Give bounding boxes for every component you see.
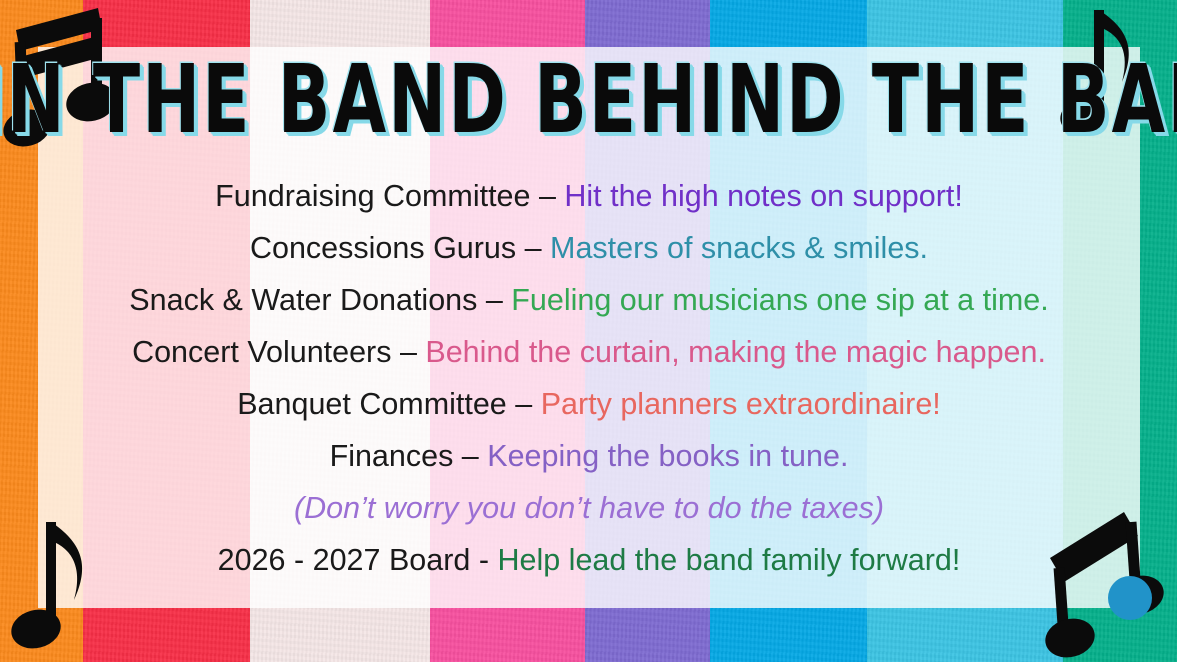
list-item: 2026 - 2027 Board - Help lead the band f… — [218, 534, 961, 586]
committee-role: Concessions Gurus — [250, 231, 525, 265]
list-item: Finances – Keeping the books in tune. — [330, 430, 849, 482]
committee-description: (Don’t worry you don’t have to do the ta… — [294, 491, 884, 525]
list-item: Concessions Gurus – Masters of snacks & … — [250, 222, 928, 274]
page-title: JOIN THE BAND BEHIND THE BAND — [0, 53, 1177, 148]
committee-description: Behind the curtain, making the magic hap… — [425, 335, 1046, 369]
committee-role: 2026 - 2027 Board — [218, 543, 479, 577]
list-item: Snack & Water Donations – Fueling our mu… — [129, 274, 1048, 326]
committee-role: Snack & Water Donations — [129, 283, 486, 317]
separator-dash: – — [525, 231, 550, 265]
committee-role: Fundraising Committee — [215, 179, 539, 213]
list-item: Concert Volunteers – Behind the curtain,… — [132, 326, 1046, 378]
committee-role: Finances — [330, 439, 462, 473]
title-container: JOIN THE BAND BEHIND THE BAND — [38, 50, 1140, 150]
separator-dash: – — [515, 387, 540, 421]
separator-dash: - — [479, 543, 498, 577]
separator-dash: – — [539, 179, 564, 213]
committee-description: Help lead the band family forward! — [497, 543, 960, 577]
list-item: Banquet Committee – Party planners extra… — [237, 378, 941, 430]
separator-dash: – — [486, 283, 511, 317]
committee-description: Party planners extraordinaire! — [541, 387, 941, 421]
list-item: (Don’t worry you don’t have to do the ta… — [294, 482, 884, 534]
committee-list: Fundraising Committee – Hit the high not… — [38, 170, 1140, 586]
poster-canvas: JOIN THE BAND BEHIND THE BAND Fundraisin… — [0, 0, 1177, 662]
committee-role: Banquet Committee — [237, 387, 515, 421]
committee-role: Concert Volunteers — [132, 335, 400, 369]
separator-dash: – — [400, 335, 425, 369]
list-item: Fundraising Committee – Hit the high not… — [215, 170, 963, 222]
separator-dash: – — [462, 439, 487, 473]
committee-description: Hit the high notes on support! — [564, 179, 962, 213]
committee-description: Fueling our musicians one sip at a time. — [511, 283, 1048, 317]
committee-description: Masters of snacks & smiles. — [550, 231, 928, 265]
committee-description: Keeping the books in tune. — [487, 439, 848, 473]
